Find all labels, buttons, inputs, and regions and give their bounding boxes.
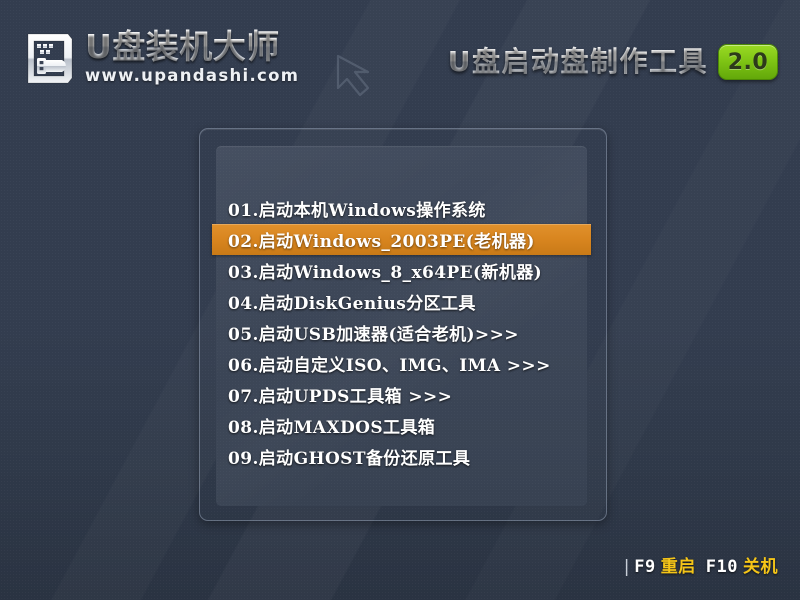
brand-url: www.upandashi.com — [85, 66, 299, 85]
hotkey-f9-action: 重启 — [661, 552, 696, 577]
app-title-block: U盘启动盘制作工具 2.0 — [448, 44, 778, 80]
app-title: U盘启动盘制作工具 — [448, 45, 708, 79]
hint-separator: | — [622, 557, 633, 577]
boot-menu-panel-inner: 01.启动本机Windows操作系统 02.启动Windows_2003PE(老… — [216, 146, 587, 506]
menu-item-06[interactable]: 06.启动自定义ISO、IMG、IMA >>> — [212, 348, 591, 379]
brand-logo: U盘装机大师 www.upandashi.com — [24, 29, 299, 86]
menu-item-04[interactable]: 04.启动DiskGenius分区工具 — [212, 286, 591, 317]
hotkey-f10: F10 — [706, 557, 738, 577]
boot-menu-screen: U盘装机大师 www.upandashi.com U盘启动盘制作工具 2.0 0… — [0, 0, 800, 600]
brand-title: U盘装机大师 — [85, 29, 280, 65]
menu-item-03[interactable]: 03.启动Windows_8_x64PE(新机器) — [212, 255, 591, 286]
hotkey-f9: F9 — [634, 557, 655, 577]
menu-item-09[interactable]: 09.启动GHOST备份还原工具 — [212, 441, 591, 472]
page-header: U盘装机大师 www.upandashi.com U盘启动盘制作工具 2.0 — [0, 0, 800, 112]
boot-menu-list[interactable]: 01.启动本机Windows操作系统 02.启动Windows_2003PE(老… — [212, 193, 591, 472]
menu-item-07[interactable]: 07.启动UPDS工具箱 >>> — [212, 379, 591, 410]
menu-item-08[interactable]: 08.启动MAXDOS工具箱 — [212, 410, 591, 441]
menu-item-01[interactable]: 01.启动本机Windows操作系统 — [212, 193, 591, 224]
usb-drive-logo-icon — [24, 31, 76, 86]
hotkey-f10-action: 关机 — [743, 552, 778, 577]
version-badge: 2.0 — [718, 44, 778, 80]
brand-text-block: U盘装机大师 www.upandashi.com — [85, 29, 299, 85]
menu-item-02[interactable]: 02.启动Windows_2003PE(老机器) — [212, 224, 591, 255]
boot-menu-panel-outer: 01.启动本机Windows操作系统 02.启动Windows_2003PE(老… — [199, 128, 607, 521]
footer-hotkey-hint: | F9 重启 F10 关机 — [622, 552, 778, 577]
menu-item-05[interactable]: 05.启动USB加速器(适合老机)>>> — [212, 317, 591, 348]
